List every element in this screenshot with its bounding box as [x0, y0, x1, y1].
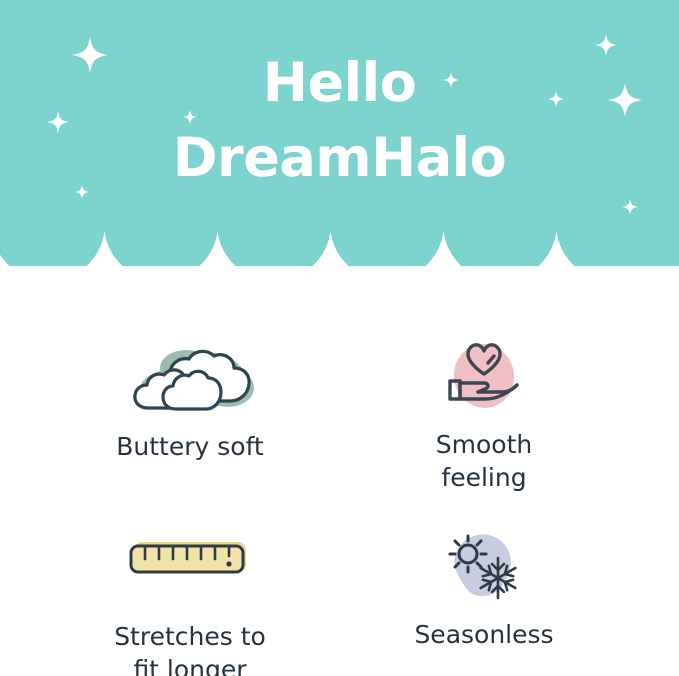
feature-item-smooth-feeling: Smooth feeling: [334, 336, 634, 495]
feature-label: Seasonless: [334, 618, 634, 651]
cloud-icon: [40, 338, 340, 418]
feature-label: Stretches to fit longer: [40, 620, 340, 676]
feature-grid: Buttery soft: [0, 300, 679, 676]
sun-snowflake-icon: [334, 526, 634, 606]
feature-item-seasonless: Seasonless: [334, 526, 634, 651]
heart-in-hand-icon: [334, 336, 634, 416]
product-feature-infographic: Hello DreamHalo: [0, 0, 679, 676]
feature-label: Buttery soft: [40, 430, 340, 463]
feature-item-buttery-soft: Buttery soft: [40, 338, 340, 463]
title-line-1: Hello: [0, 46, 679, 121]
title-line-2: DreamHalo: [0, 121, 679, 196]
page-title: Hello DreamHalo: [0, 46, 679, 195]
feature-label: Smooth feeling: [334, 428, 634, 495]
ruler-icon: [40, 528, 340, 608]
header-banner: Hello DreamHalo: [0, 0, 679, 266]
feature-item-stretches: Stretches to fit longer: [40, 528, 340, 676]
